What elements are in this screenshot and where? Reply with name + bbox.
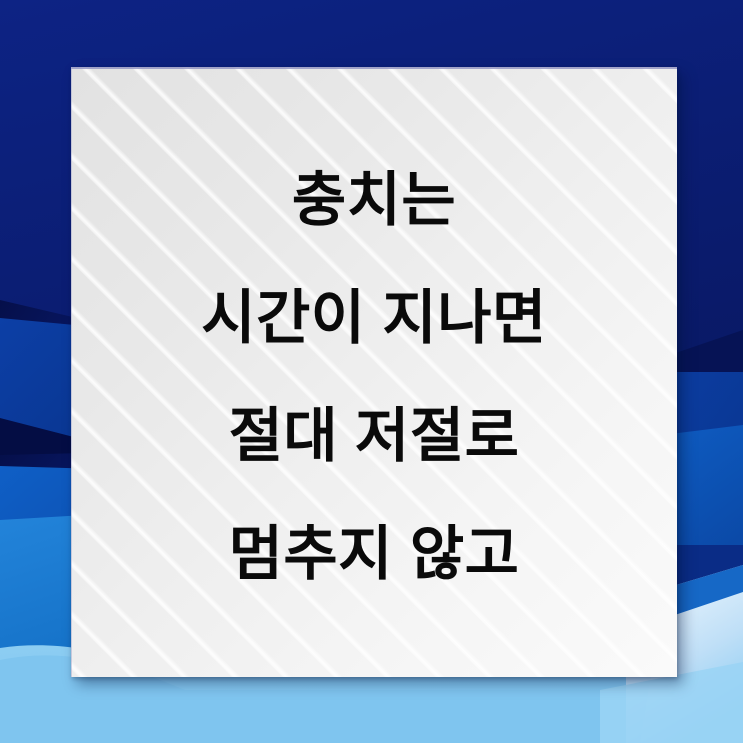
- headline-line-1: 충치는: [292, 141, 456, 259]
- poster-canvas: 충치는 시간이 지나면 절대 저절로 멈추지 않고: [0, 0, 743, 743]
- headline-line-3: 절대 저절로: [229, 377, 520, 495]
- quote-card: 충치는 시간이 지나면 절대 저절로 멈추지 않고: [71, 67, 677, 677]
- headline-line-2: 시간이 지나면: [201, 259, 547, 377]
- headline-line-4: 멈추지 않고: [229, 495, 520, 613]
- headline-block: 충치는 시간이 지나면 절대 저절로 멈추지 않고: [71, 67, 677, 677]
